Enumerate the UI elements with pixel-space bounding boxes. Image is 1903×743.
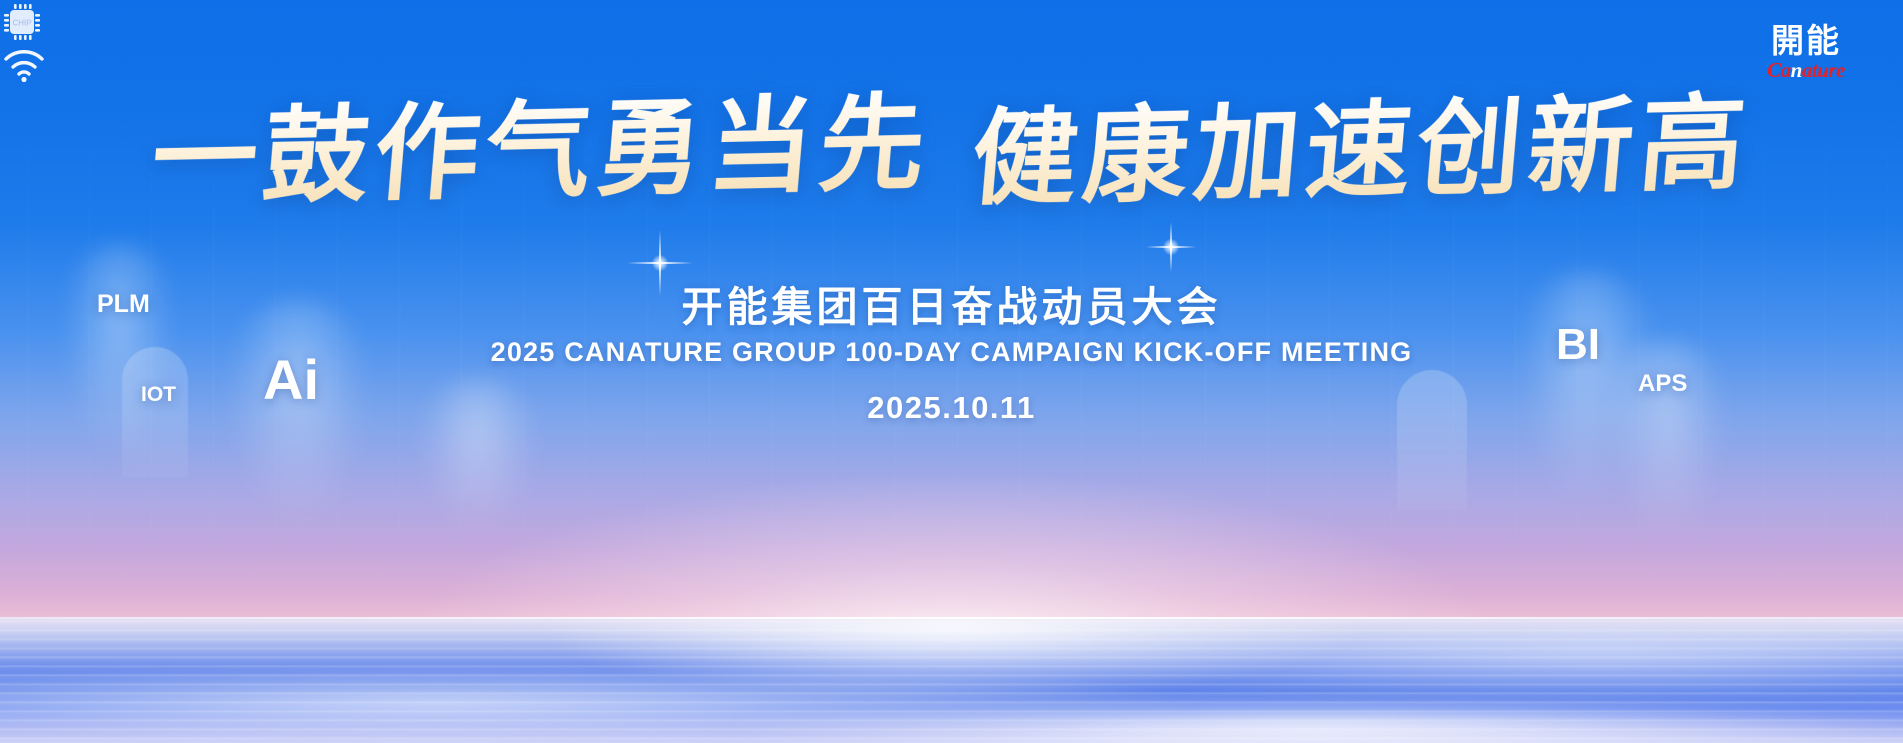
badge-aps: APS [1638, 370, 1687, 398]
svg-text:CHIP: CHIP [12, 19, 32, 28]
water-foam [723, 700, 1903, 743]
brand-logo-en: Canature [1731, 60, 1881, 81]
brand-logo-en-accent: n [1791, 58, 1802, 82]
subtitle-chinese: 开能集团百日奋战动员大会 [0, 273, 1903, 333]
glow-blob-aps [1607, 340, 1725, 530]
water-surface [0, 617, 1903, 743]
brand-logo-en-lead: Ca [1767, 58, 1791, 82]
water-sheen-right [1028, 625, 1903, 701]
badge-bi: BI [1556, 320, 1600, 370]
brand-logo-cn: 開能 [1731, 24, 1881, 57]
brand-logo[interactable]: 開能 Canature [1731, 24, 1881, 81]
badge-iot: IOT [141, 383, 176, 407]
wifi-icon [0, 44, 48, 84]
brand-logo-en-tail: ature [1802, 58, 1845, 82]
headline: 一鼓作气勇当先 健康加速创新高 [0, 92, 1903, 210]
headline-line-1: 一鼓作气勇当先 [147, 84, 935, 218]
badge-ai: Ai [263, 347, 319, 412]
sparkle-icon [1146, 222, 1196, 272]
badge-plm: PLM [97, 290, 150, 319]
headline-line-2: 健康加速创新高 [967, 84, 1755, 218]
chip-icon: CHIP [0, 0, 44, 44]
event-banner: 開能 Canature 一鼓作气勇当先 健康加速创新高 开能集团百日奋战动员大会… [0, 0, 1903, 743]
